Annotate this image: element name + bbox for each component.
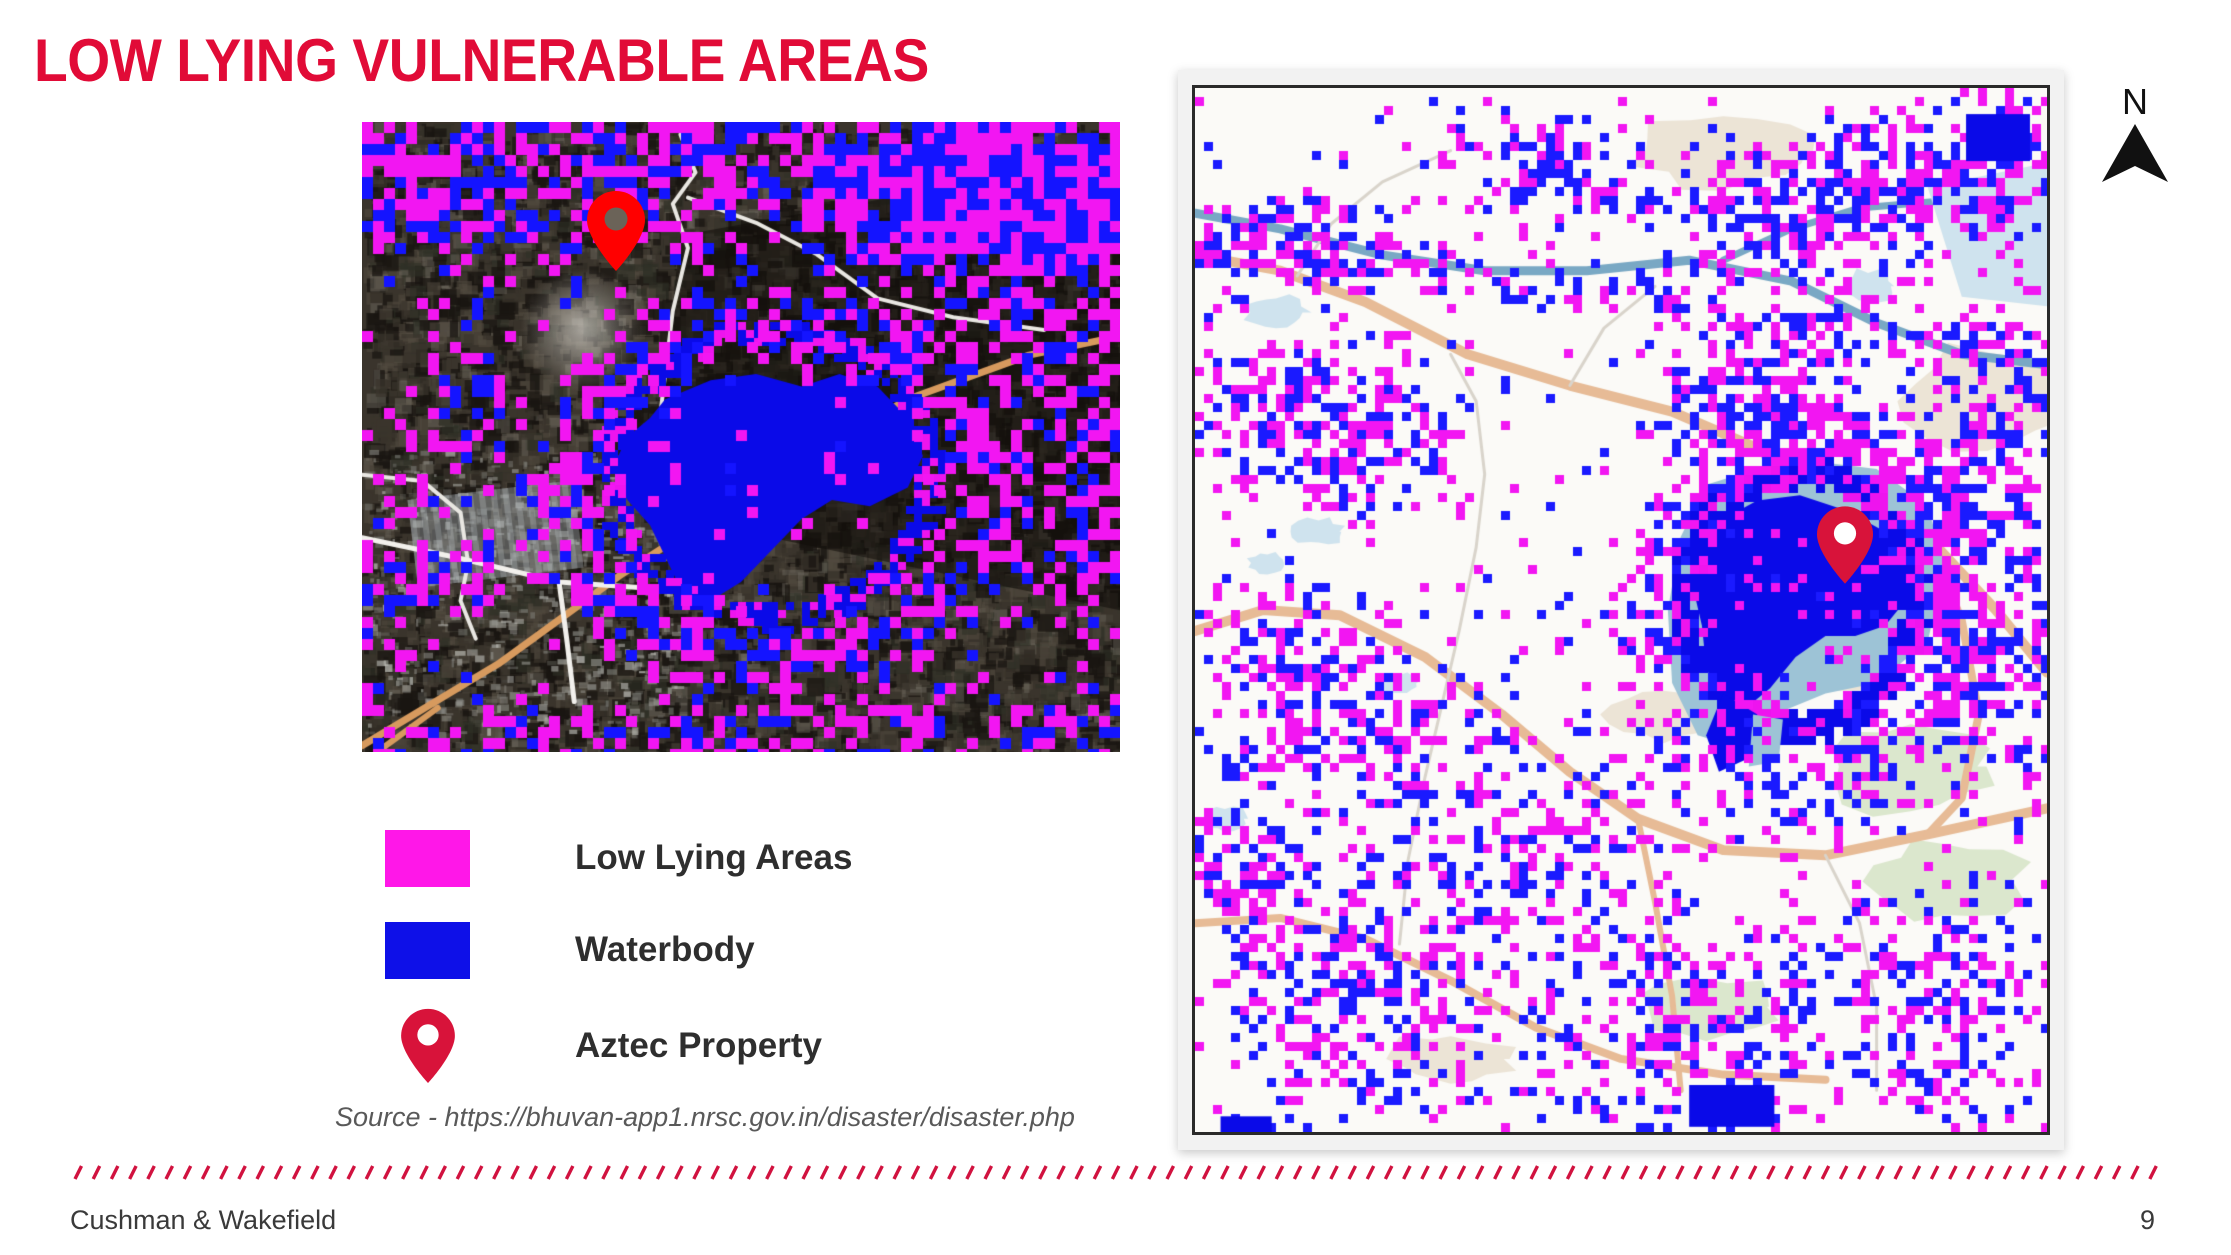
legend-label-low-lying-areas: Low Lying Areas	[575, 838, 852, 878]
north-label: N	[2090, 84, 2180, 120]
slanted-dash-divider-icon	[70, 1163, 2165, 1185]
square-swatch-icon-low-lying-areas	[385, 830, 470, 887]
map-legend: Low Lying Areas Waterbody Aztec Property	[385, 812, 1085, 1096]
map-pin-aztec-property-right[interactable]	[1816, 505, 1874, 585]
legend-label-aztec-property: Aztec Property	[575, 1026, 822, 1066]
map-pin-icon-legend	[385, 1009, 470, 1083]
street-basemap-map[interactable]	[1192, 85, 2050, 1135]
footer-divider	[70, 1163, 2165, 1185]
legend-item-waterbody: Waterbody	[385, 904, 1085, 996]
street-map-canvas	[1195, 88, 2047, 1132]
footer-brand: Cushman & Wakefield	[70, 1205, 336, 1236]
satellite-map-canvas	[362, 122, 1120, 752]
source-attribution: Source - https://bhuvan-app1.nrsc.gov.in…	[335, 1102, 1075, 1133]
north-arrow: N	[2090, 84, 2180, 194]
square-swatch-icon-waterbody	[385, 922, 470, 979]
north-arrow-icon	[2100, 122, 2170, 186]
legend-item-low-lying-areas: Low Lying Areas	[385, 812, 1085, 904]
page-number: 9	[2140, 1205, 2155, 1236]
map-pin-aztec-property-left[interactable]	[586, 190, 646, 272]
legend-label-waterbody: Waterbody	[575, 930, 755, 970]
satellite-imagery-map[interactable]	[362, 122, 1120, 752]
page-title: LOW LYING VULNERABLE AREAS	[34, 26, 929, 95]
legend-item-aztec-property: Aztec Property	[385, 996, 1085, 1096]
